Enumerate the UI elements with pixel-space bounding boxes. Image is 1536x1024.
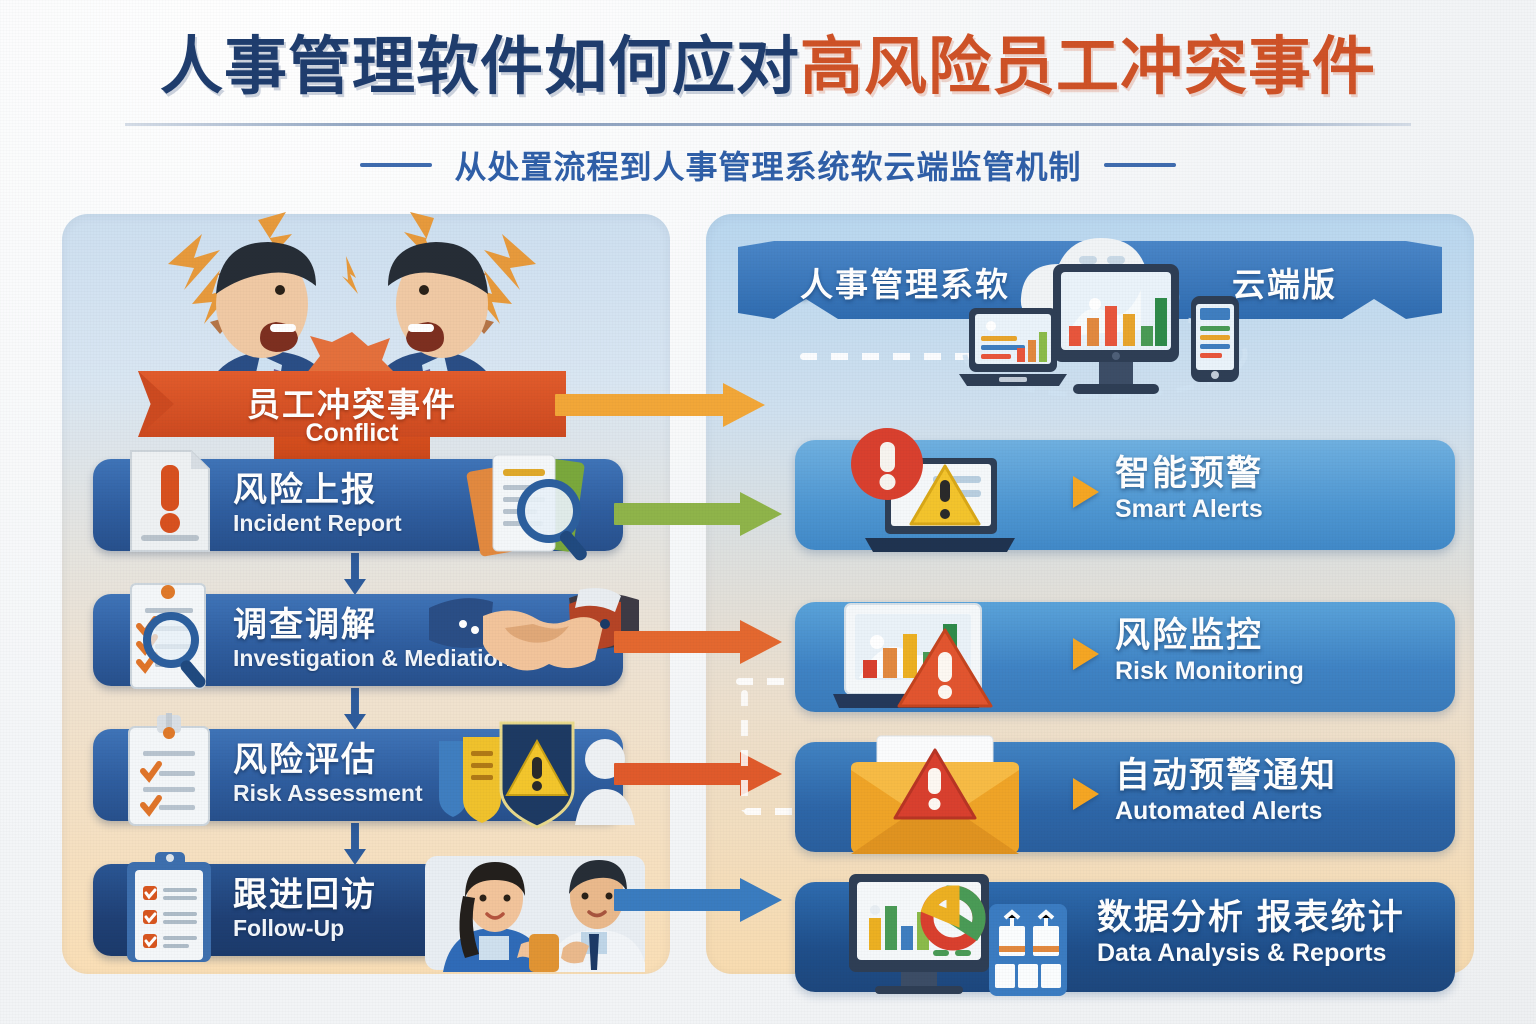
two-colleagues-art bbox=[425, 852, 645, 972]
feature-cn-label: 智能预警 bbox=[1115, 454, 1263, 494]
page-title-navy: 人事管理软件如何应对 bbox=[160, 32, 800, 102]
laptop-alert-icon bbox=[829, 428, 1059, 556]
system-banner-label-right: 云端版 bbox=[1232, 258, 1337, 306]
clipboard-check-icon bbox=[115, 713, 223, 829]
page-subtitle: 从处置流程到人事管理系统软云端监管机制 bbox=[454, 142, 1081, 188]
feature-bullet-triangle-icon bbox=[1073, 778, 1099, 810]
step-card-investigation[interactable]: 调查调解 Investigation & Mediation bbox=[93, 594, 623, 686]
system-banner-label-left: 人事管理系软 bbox=[800, 258, 1010, 306]
conflict-ribbon-en: Conflict bbox=[274, 419, 430, 448]
documents-magnifier-art bbox=[429, 445, 639, 563]
arrow-assessment-to-automated-alerts bbox=[614, 752, 782, 796]
feature-card-text: 数据分析 报表统计 Data Analysis & Reports bbox=[1097, 898, 1405, 970]
cloud-devices-art bbox=[955, 222, 1255, 412]
feature-cn-label: 数据分析 报表统计 bbox=[1097, 898, 1405, 938]
page-title-orange: 高风险员工冲突事件 bbox=[800, 32, 1376, 102]
feature-card-automated-alerts[interactable]: 自动预警通知 Automated Alerts bbox=[795, 742, 1455, 852]
arrow-followup-to-reports bbox=[614, 878, 782, 922]
checklist-magnifier-icon bbox=[115, 578, 223, 694]
clipboard-tasks-icon bbox=[115, 848, 223, 964]
feature-card-text: 自动预警通知 Automated Alerts bbox=[1115, 756, 1337, 828]
page-title: 人事管理软件如何应对高风险员工冲突事件 bbox=[0, 36, 1536, 99]
feature-en-label: Data Analysis & Reports bbox=[1097, 938, 1405, 969]
feature-en-label: Smart Alerts bbox=[1115, 494, 1263, 525]
title-divider bbox=[125, 123, 1411, 126]
monitor-charts-icon bbox=[839, 868, 1069, 996]
handshake-art bbox=[429, 580, 639, 698]
feature-card-smart-alerts[interactable]: 智能预警 Smart Alerts bbox=[795, 440, 1455, 550]
subtitle-row: 从处置流程到人事管理系统软云端监管机制 bbox=[0, 142, 1536, 188]
envelope-alert-icon bbox=[829, 730, 1059, 858]
arrow-conflict-to-banner bbox=[555, 383, 765, 427]
feature-cn-label: 风险监控 bbox=[1115, 616, 1304, 656]
feature-card-text: 智能预警 Smart Alerts bbox=[1115, 454, 1263, 526]
feature-card-risk-monitoring[interactable]: 风险监控 Risk Monitoring bbox=[795, 602, 1455, 712]
chart-warning-icon bbox=[829, 590, 1059, 718]
shield-warning-person-art bbox=[429, 715, 639, 833]
subtitle-dash-left bbox=[360, 163, 432, 167]
feature-en-label: Risk Monitoring bbox=[1115, 656, 1304, 687]
feature-bullet-triangle-icon bbox=[1073, 638, 1099, 670]
subtitle-dash-right bbox=[1104, 163, 1176, 167]
feature-cn-label: 自动预警通知 bbox=[1115, 756, 1337, 796]
arrow-report-to-smart-alerts bbox=[614, 492, 782, 536]
arrow-investigation-to-risk-monitoring bbox=[614, 620, 782, 664]
step-card-risk-assessment[interactable]: 风险评估 Risk Assessment bbox=[93, 729, 623, 821]
page-header: 人事管理软件如何应对高风险员工冲突事件 从处置流程到人事管理系统软云端监管机制 bbox=[0, 0, 1536, 195]
dashed-vertical-connector bbox=[741, 690, 748, 812]
alert-document-icon bbox=[115, 443, 223, 559]
feature-en-label: Automated Alerts bbox=[1115, 796, 1337, 827]
step-card-incident-report[interactable]: 风险上报 Incident Report bbox=[93, 459, 623, 551]
step-card-follow-up[interactable]: 跟进回访 Follow-Up bbox=[93, 864, 623, 956]
feature-card-data-analysis[interactable]: 数据分析 报表统计 Data Analysis & Reports bbox=[795, 882, 1455, 992]
feature-card-text: 风险监控 Risk Monitoring bbox=[1115, 616, 1304, 688]
feature-bullet-triangle-icon bbox=[1073, 476, 1099, 508]
